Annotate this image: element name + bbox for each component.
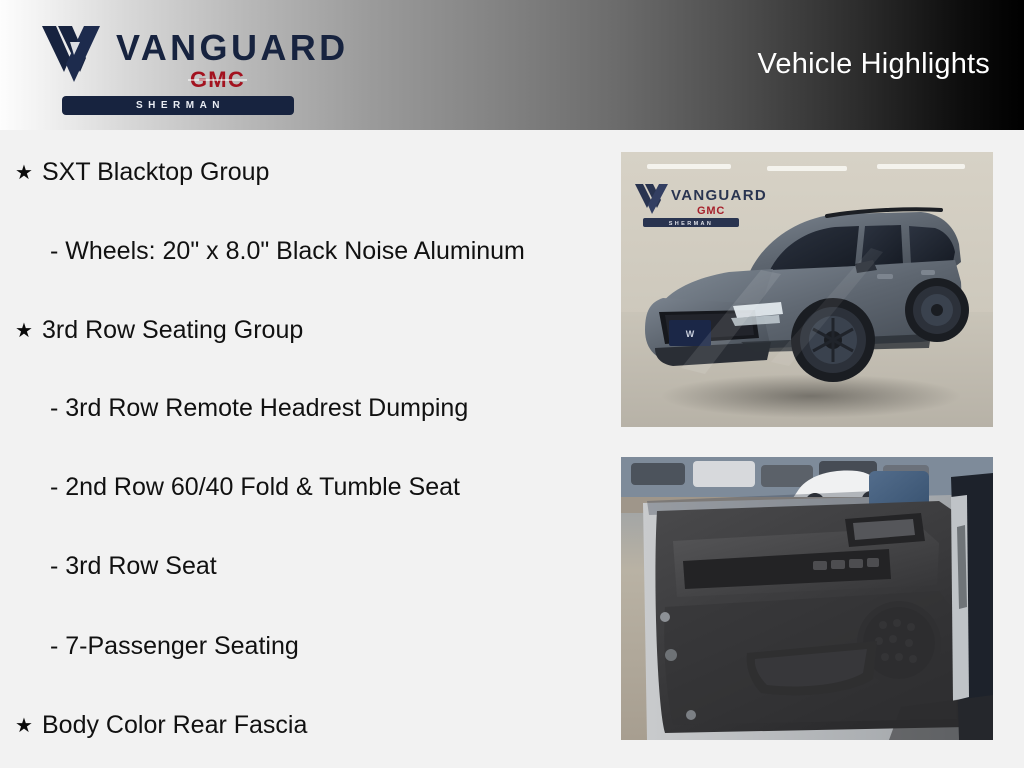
list-item: ★ - 3rd Row Remote Headrest Dumping: [0, 388, 600, 428]
svg-text:VANGUARD: VANGUARD: [671, 187, 767, 204]
star-icon: ★: [0, 320, 42, 340]
list-item: ★ 3rd Row Seating Group: [0, 310, 600, 350]
feature-label: - 3rd Row Seat: [42, 554, 217, 579]
logo-brand-text: VANGUARD: [116, 30, 349, 66]
vehicle-interior-photo[interactable]: [621, 457, 993, 740]
logo-location-bar: SHERMAN: [62, 96, 294, 115]
list-item: ★ Body Color Rear Fascia: [0, 705, 600, 745]
star-icon: ★: [0, 162, 42, 182]
svg-text:W: W: [686, 329, 695, 339]
star-icon: ★: [0, 715, 42, 735]
list-item: ★ - Wheels: 20" x 8.0" Black Noise Alumi…: [0, 231, 600, 271]
feature-label: - Wheels: 20" x 8.0" Black Noise Aluminu…: [42, 239, 525, 264]
list-item: ★ - 3rd Row Seat: [0, 546, 600, 586]
feature-list: ★ SXT Blacktop Group ★ - Wheels: 20" x 8…: [0, 130, 600, 768]
feature-label: Body Color Rear Fascia: [42, 713, 307, 738]
svg-text:SHERMAN: SHERMAN: [669, 221, 714, 227]
list-item: ★ - 7-Passenger Seating: [0, 626, 600, 666]
vehicle-exterior-photo[interactable]: VANGUARD GMC SHERMAN: [621, 152, 993, 427]
logo-make-text: GMC: [190, 69, 245, 91]
list-item: ★ SXT Blacktop Group: [0, 152, 600, 192]
feature-label: 3rd Row Seating Group: [42, 318, 303, 343]
feature-label: - 3rd Row Remote Headrest Dumping: [42, 396, 468, 421]
logo-location-text: SHERMAN: [62, 96, 294, 115]
feature-label: - 7-Passenger Seating: [42, 634, 299, 659]
page-header: VANGUARD GMC SHERMAN Vehicle Highlights: [0, 0, 1024, 130]
page-title: Vehicle Highlights: [757, 48, 990, 81]
list-item: ★ - 2nd Row 60/40 Fold & Tumble Seat: [0, 467, 600, 507]
feature-label: - 2nd Row 60/40 Fold & Tumble Seat: [42, 475, 460, 500]
vanguard-double-v-mark-icon: [40, 24, 112, 84]
feature-label: SXT Blacktop Group: [42, 160, 269, 185]
vehicle-highlights-slide: VANGUARD GMC SHERMAN Vehicle Highlights …: [0, 0, 1024, 768]
svg-text:GMC: GMC: [697, 205, 725, 217]
dealer-logo: VANGUARD GMC SHERMAN: [40, 24, 315, 110]
